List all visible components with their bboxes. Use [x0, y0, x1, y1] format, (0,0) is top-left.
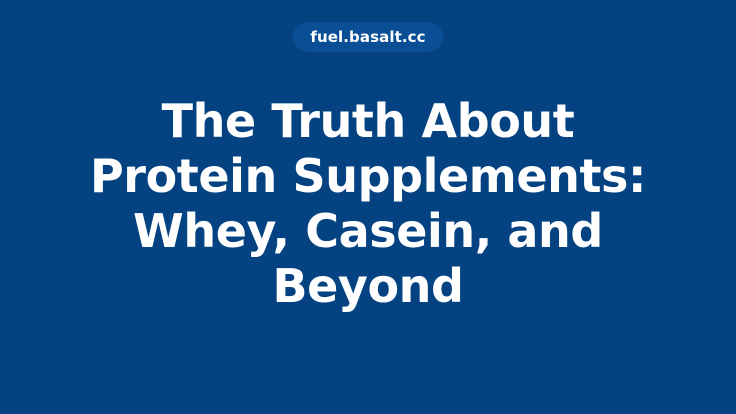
headline-line-2: Protein Supplements:	[90, 149, 646, 204]
hero-card: fuel.basalt.cc The Truth About Protein S…	[0, 0, 736, 414]
site-badge: fuel.basalt.cc	[293, 22, 442, 52]
headline-line-3: Whey, Casein, and	[133, 204, 603, 259]
page-title: The Truth About Protein Supplements: Whe…	[58, 94, 678, 314]
headline-line-4: Beyond	[272, 259, 463, 314]
site-badge-label: fuel.basalt.cc	[310, 30, 425, 45]
headline-line-1: The Truth About	[162, 94, 575, 149]
